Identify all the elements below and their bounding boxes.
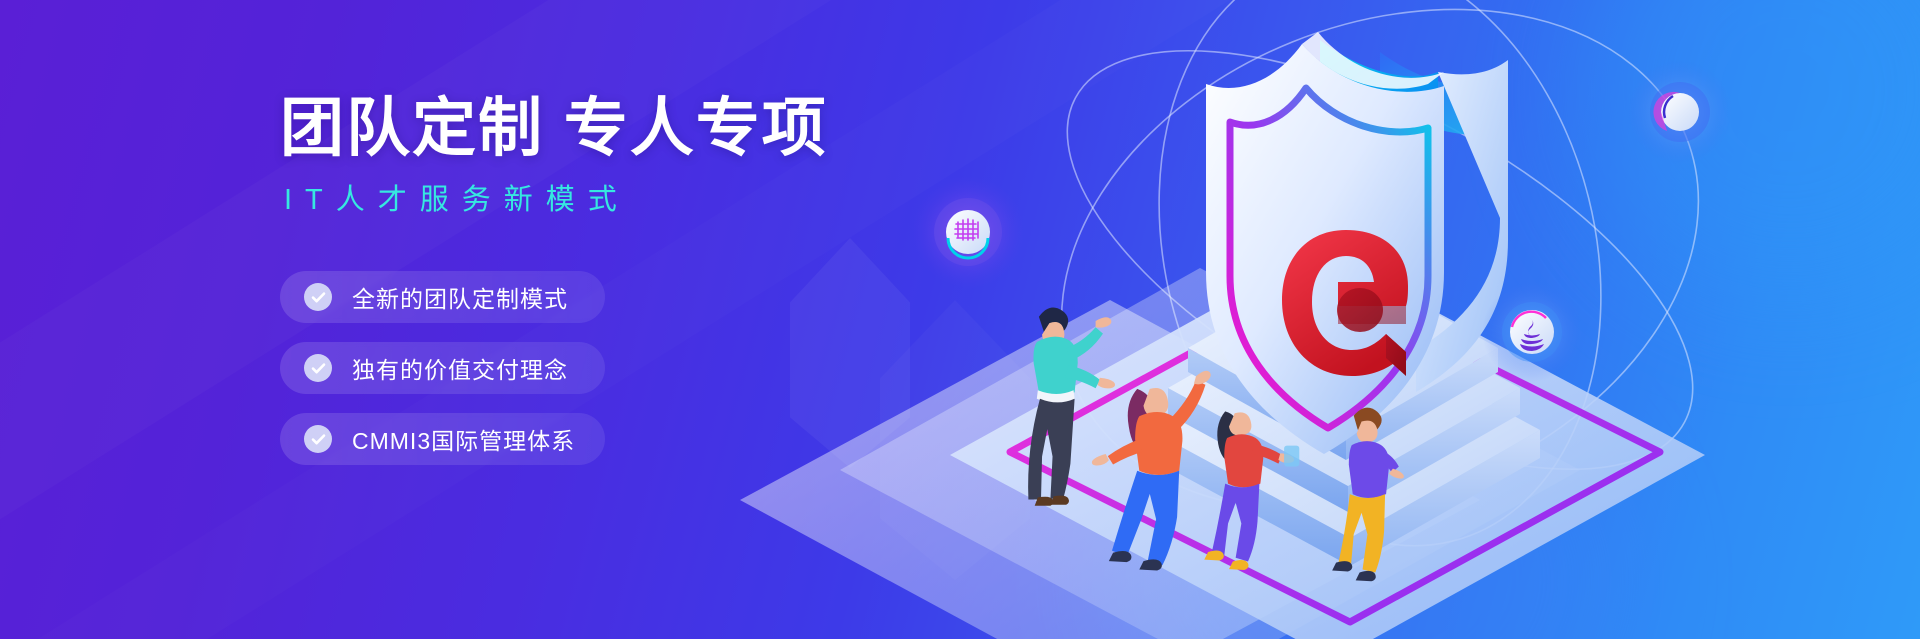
promo-banner: 团队定制 专人专项 IT人才服务新模式 全新的团队定制模式 独有的价值交付理念 bbox=[0, 0, 1920, 639]
feature-label: 独有的价值交付理念 bbox=[352, 351, 568, 385]
feature-pill-0[interactable]: 全新的团队定制模式 bbox=[280, 271, 605, 323]
plain-orb-icon bbox=[1628, 60, 1732, 164]
chip-orb-icon bbox=[912, 176, 1024, 288]
java-orb-icon bbox=[1482, 282, 1582, 382]
feature-label: CMMI3国际管理体系 bbox=[352, 422, 575, 456]
check-icon bbox=[304, 283, 332, 311]
e-logo-emblem bbox=[1282, 230, 1408, 376]
feature-label: 全新的团队定制模式 bbox=[352, 280, 568, 314]
feature-pill-2[interactable]: CMMI3国际管理体系 bbox=[280, 413, 605, 465]
feature-pill-1[interactable]: 独有的价值交付理念 bbox=[280, 342, 605, 394]
check-icon bbox=[304, 425, 332, 453]
illustration-scene bbox=[720, 0, 1920, 639]
check-icon bbox=[304, 354, 332, 382]
